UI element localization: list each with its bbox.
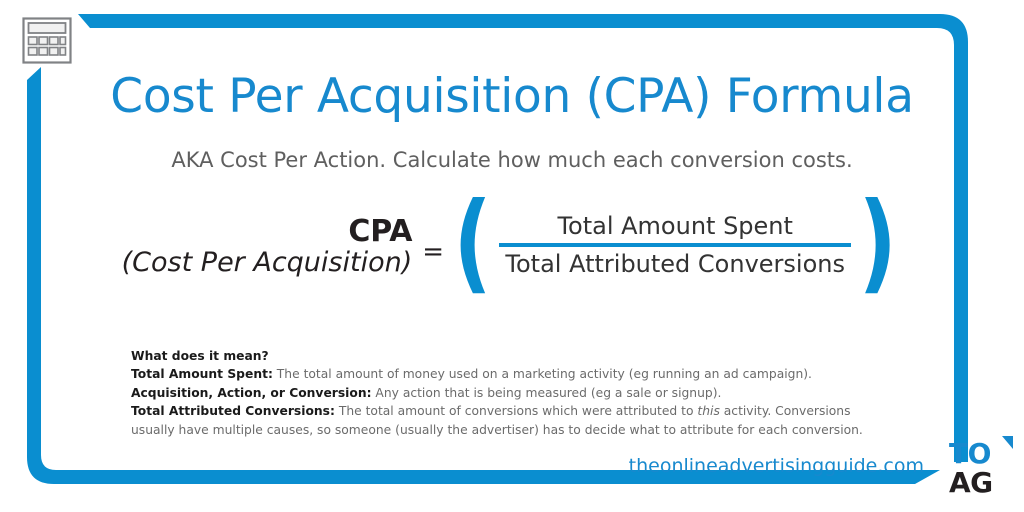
fraction-denominator: Total Attributed Conversions	[499, 247, 851, 278]
explanation-heading: What does it mean?	[131, 347, 891, 365]
formula-expanded-name: (Cost Per Acquisition)	[122, 248, 413, 278]
fraction-numerator: Total Amount Spent	[499, 212, 851, 243]
page-subtitle: AKA Cost Per Action. Calculate how much …	[0, 148, 1024, 172]
explanation-text-2a: The total amount of conversions which we…	[335, 404, 697, 418]
formula-block: CPA (Cost Per Acquisition) = ( Total Amo…	[0, 212, 1024, 278]
explanation-term-1: Acquisition, Action, or Conversion:	[131, 386, 372, 400]
infographic-page: Cost Per Acquisition (CPA) Formula AKA C…	[0, 0, 1024, 512]
formula-abbreviation: CPA	[122, 216, 413, 248]
explanation-text-1: Any action that is being measured (eg a …	[372, 386, 722, 400]
explanation-term-0: Total Amount Spent:	[131, 367, 273, 381]
explanation-item-1: Acquisition, Action, or Conversion: Any …	[131, 384, 891, 402]
logo-line-bottom: AG	[949, 468, 1013, 497]
explanation-term-2: Total Attributed Conversions:	[131, 404, 335, 418]
formula-label: CPA (Cost Per Acquisition)	[122, 216, 419, 277]
page-title: Cost Per Acquisition (CPA) Formula	[0, 72, 1024, 121]
site-url[interactable]: theonlineadvertisingguide.com	[629, 455, 924, 477]
triangle-tick-icon	[1002, 436, 1013, 449]
explanation-block: What does it mean? Total Amount Spent: T…	[131, 347, 891, 439]
equals-sign: =	[418, 237, 448, 267]
explanation-emphasis-2: this	[697, 404, 719, 418]
explanation-item-0: Total Amount Spent: The total amount of …	[131, 365, 891, 383]
toag-logo[interactable]: TO AG	[949, 439, 1013, 501]
explanation-text-0: The total amount of money used on a mark…	[273, 367, 812, 381]
calculator-icon	[22, 17, 72, 64]
explanation-item-2: Total Attributed Conversions: The total …	[131, 402, 891, 439]
fraction: Total Amount Spent Total Attributed Conv…	[495, 212, 855, 278]
